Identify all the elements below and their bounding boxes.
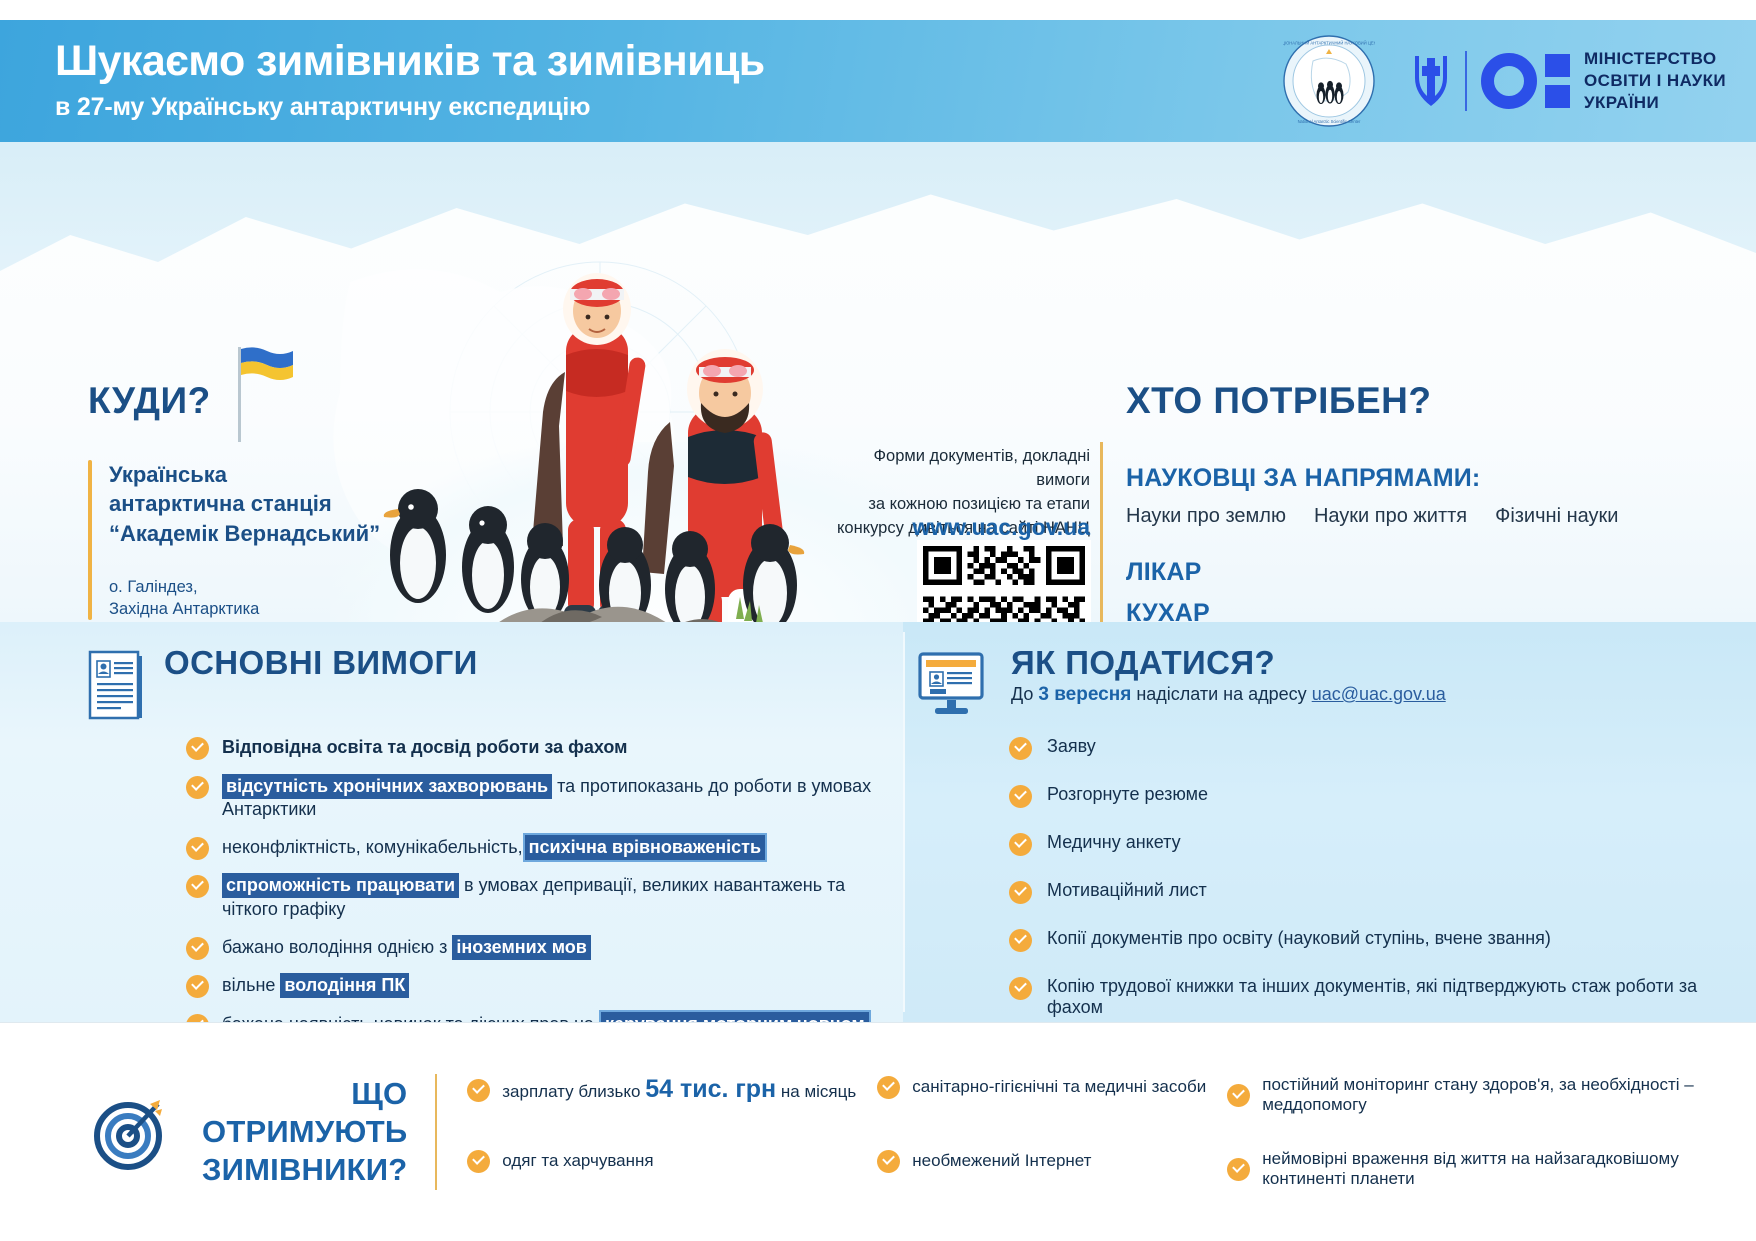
- check-icon: [1227, 1084, 1250, 1107]
- check-icon: [467, 1079, 490, 1102]
- page-subtitle: в 27-му Українську антарктичну експедиці…: [55, 93, 765, 122]
- document-text: Медичну анкету: [1047, 832, 1181, 853]
- nasc-emblem-logo: НАЦІОНАЛЬНИЙ АНТАРКТИЧНИЙ НАУКОВИЙ ЦЕНТР…: [1283, 35, 1375, 127]
- document-text: Розгорнуте резюме: [1047, 784, 1208, 805]
- apply-title: ЯК ПОДАТИСЯ?: [1011, 644, 1446, 682]
- check-icon: [877, 1150, 900, 1173]
- expedition-illustration: [370, 237, 930, 622]
- panel-separator: [903, 632, 905, 1012]
- who-heading: ХТО ПОТРІБЕН?: [1126, 380, 1726, 422]
- check-icon: [1009, 977, 1032, 1000]
- requirement-text: неконфліктність, комунікабельність,психі…: [222, 836, 767, 859]
- benefit-item: необмежений Інтернет: [877, 1149, 1217, 1173]
- benefits-divider: [435, 1074, 437, 1190]
- benefit-item: постійний моніторинг стану здоров'я, за …: [1227, 1075, 1756, 1115]
- benefits-section: ЩО ОТРИМУЮТЬ ЗИМІВНИКИ? зарплату близько…: [0, 1022, 1756, 1241]
- station-name: Українська антарктична станція “Академік…: [109, 460, 380, 548]
- where-body: Українська антарктична станція “Академік…: [88, 460, 380, 620]
- requirements-list: Відповідна освіта та досвід роботи за фа…: [0, 722, 903, 1037]
- ministry-of-education-logo: МІНІСТЕРСТВО ОСВІТИ І НАУКИ УКРАЇНИ: [1411, 48, 1726, 113]
- science-fields-list: Науки про землю Науки про життя Фізичні …: [1126, 505, 1726, 528]
- svg-text:НАЦІОНАЛЬНИЙ АНТАРКТИЧНИЙ НАУК: НАЦІОНАЛЬНИЙ АНТАРКТИЧНИЙ НАУКОВИЙ ЦЕНТР: [1283, 41, 1375, 46]
- document-text: Заяву: [1047, 736, 1096, 757]
- benefits-title-line-2: ОТРИМУЮТЬ: [202, 1113, 407, 1151]
- mid-section: ОСНОВНІ ВИМОГИ Відповідна освіта та досв…: [0, 622, 1756, 1022]
- target-icon: [92, 1094, 168, 1170]
- apply-header: ЯК ПОДАТИСЯ? До 3 вересня надіслати на а…: [903, 622, 1756, 716]
- benefits-list: зарплату близько 54 тис. грн на місяць с…: [467, 1075, 1756, 1189]
- ministry-name: МІНІСТЕРСТВО ОСВІТИ І НАУКИ УКРАЇНИ: [1584, 48, 1726, 113]
- requirement-text: спроможність працювати в умовах депривац…: [222, 874, 903, 921]
- benefits-title: ЩО ОТРИМУЮТЬ ЗИМІВНИКИ?: [202, 1075, 407, 1188]
- ministry-line-2: ОСВІТИ І НАУКИ: [1584, 70, 1726, 92]
- deadline-middle: надіслати на адресу: [1131, 684, 1311, 704]
- ministry-line-1: МІНІСТЕРСТВО: [1584, 48, 1726, 70]
- benefit-text: зарплату близько 54 тис. грн на місяць: [502, 1075, 856, 1104]
- requirements-header: ОСНОВНІ ВИМОГИ: [0, 622, 903, 722]
- check-icon: [1227, 1158, 1250, 1181]
- document-text: Копії документів про освіту (науковий ст…: [1047, 928, 1551, 949]
- document-item: Розгорнуте резюме: [1009, 784, 1756, 808]
- benefit-text: одяг та харчування: [502, 1151, 653, 1171]
- logo-divider: [1465, 51, 1467, 111]
- benefit-text: необмежений Інтернет: [912, 1151, 1091, 1171]
- trident-icon: [1411, 50, 1451, 112]
- who-divider: [1100, 442, 1103, 622]
- requirements-title: ОСНОВНІ ВИМОГИ: [164, 644, 478, 682]
- requirement-item: відсутність хронічних захворювань та про…: [186, 775, 903, 822]
- poster-root: Шукаємо зимівників та зимівниць в 27-му …: [0, 0, 1756, 1241]
- who-needed-block: ХТО ПОТРІБЕН? НАУКОВЦІ ЗА НАПРЯМАМИ: Нау…: [1126, 380, 1726, 622]
- check-icon: [1009, 881, 1032, 904]
- document-item: Медичну анкету: [1009, 832, 1756, 856]
- website-url[interactable]: www.uac.gov.ua: [832, 514, 1090, 541]
- requirement-text: відсутність хронічних захворювань та про…: [222, 775, 903, 822]
- where-accent-bar: [88, 460, 92, 620]
- deadline-prefix: До: [1011, 684, 1038, 704]
- science-field: Фізичні науки: [1495, 505, 1618, 528]
- check-icon: [186, 975, 209, 998]
- check-icon: [1009, 785, 1032, 808]
- role-item: ЛІКАР: [1126, 552, 1726, 593]
- apply-deadline: До 3 вересня надіслати на адресу uac@uac…: [1011, 682, 1446, 706]
- requirement-item: Відповідна освіта та досвід роботи за фа…: [186, 736, 903, 760]
- deadline-date: 3 вересня: [1038, 684, 1131, 705]
- check-icon: [1009, 737, 1032, 760]
- svg-text:National Antarctic Scientific: National Antarctic Scientific Center: [1298, 119, 1361, 124]
- apply-panel: ЯК ПОДАТИСЯ? До 3 вересня надіслати на а…: [903, 622, 1756, 1022]
- station-line-2: антарктична станція: [109, 489, 380, 518]
- ring-icon: [1481, 53, 1537, 109]
- mon-symbol: [1481, 53, 1570, 109]
- where-heading: КУДИ?: [88, 380, 380, 422]
- check-icon: [186, 875, 209, 898]
- check-icon: [186, 837, 209, 860]
- check-icon: [186, 937, 209, 960]
- location-line-1: о. Галіндез,: [109, 576, 380, 598]
- check-icon: [1009, 929, 1032, 952]
- page-title: Шукаємо зимівників та зимівниць: [55, 40, 765, 84]
- who-subheading: НАУКОВЦІ ЗА НАПРЯМАМИ:: [1126, 464, 1726, 493]
- benefit-item: одяг та харчування: [467, 1149, 867, 1173]
- forms-note-line-1: Форми документів, докладні вимоги: [832, 445, 1090, 493]
- benefit-item: зарплату близько 54 тис. грн на місяць: [467, 1075, 867, 1104]
- station-line-1: Українська: [109, 460, 380, 489]
- document-text: Мотиваційний лист: [1047, 880, 1207, 901]
- requirement-text: Відповідна освіта та досвід роботи за фа…: [222, 736, 628, 759]
- benefit-text: санітарно-гігієнічні та медичні засоби: [912, 1077, 1206, 1097]
- document-item: Заяву: [1009, 736, 1756, 760]
- check-icon: [186, 776, 209, 799]
- document-item: Копію трудової книжки та інших документі…: [1009, 976, 1756, 1018]
- science-field: Науки про життя: [1314, 505, 1467, 528]
- requirement-item: бажано володіння однією з іноземних мов: [186, 936, 903, 960]
- benefit-text: постійний моніторинг стану здоров'я, за …: [1262, 1075, 1756, 1115]
- header-titles: Шукаємо зимівників та зимівниць в 27-му …: [0, 40, 765, 122]
- benefit-item: санітарно-гігієнічні та медичні засоби: [877, 1075, 1217, 1099]
- document-text: Копію трудової книжки та інших документі…: [1047, 976, 1756, 1018]
- computer-icon: [917, 652, 991, 716]
- station-location: о. Галіндез, Західна Антарктика: [109, 576, 380, 621]
- hero-section: КУДИ? Українська антарктична станція “Ак…: [0, 142, 1756, 622]
- ministry-line-3: УКРАЇНИ: [1584, 92, 1726, 114]
- role-item: КУХАР: [1126, 593, 1726, 623]
- qr-code[interactable]: [917, 540, 1091, 622]
- squares-icon: [1545, 54, 1570, 108]
- requirements-panel: ОСНОВНІ ВИМОГИ Відповідна освіта та досв…: [0, 622, 903, 1022]
- document-icon: [88, 650, 144, 722]
- requirement-text: бажано володіння однією з іноземних мов: [222, 936, 591, 959]
- document-item: Копії документів про освіту (науковий ст…: [1009, 928, 1756, 952]
- location-line-2: Західна Антарктика: [109, 598, 380, 620]
- check-icon: [186, 737, 209, 760]
- benefit-text: неймовірні враження від життя на найзага…: [1262, 1149, 1756, 1189]
- apply-email-link[interactable]: uac@uac.gov.ua: [1312, 684, 1446, 704]
- header-logos: НАЦІОНАЛЬНИЙ АНТАРКТИЧНИЙ НАУКОВИЙ ЦЕНТР…: [1283, 35, 1756, 127]
- station-line-3: “Академік Вернадський”: [109, 519, 380, 548]
- check-icon: [877, 1076, 900, 1099]
- benefits-title-line-3: ЗИМІВНИКИ?: [202, 1151, 407, 1189]
- benefits-title-line-1: ЩО: [202, 1075, 407, 1113]
- requirement-text: вільне володіння ПК: [222, 974, 409, 997]
- header-banner: Шукаємо зимівників та зимівниць в 27-му …: [0, 20, 1756, 142]
- requirement-item: неконфліктність, комунікабельність,психі…: [186, 836, 903, 860]
- benefit-item: неймовірні враження від життя на найзага…: [1227, 1149, 1756, 1189]
- requirement-item: спроможність працювати в умовах депривац…: [186, 874, 903, 921]
- check-icon: [1009, 833, 1032, 856]
- roles-list: ЛІКАР КУХАР ДИЗЕЛІСТ-ЕЛЕКТРИК СИСТЕМНИЙ …: [1126, 552, 1726, 622]
- where-block: КУДИ? Українська антарктична станція “Ак…: [88, 380, 380, 620]
- requirement-item: вільне володіння ПК: [186, 974, 903, 998]
- check-icon: [467, 1150, 490, 1173]
- document-item: Мотиваційний лист: [1009, 880, 1756, 904]
- documents-list: Заяву Розгорнуте резюме Медичну анкету М…: [903, 716, 1756, 1018]
- science-field: Науки про землю: [1126, 505, 1286, 528]
